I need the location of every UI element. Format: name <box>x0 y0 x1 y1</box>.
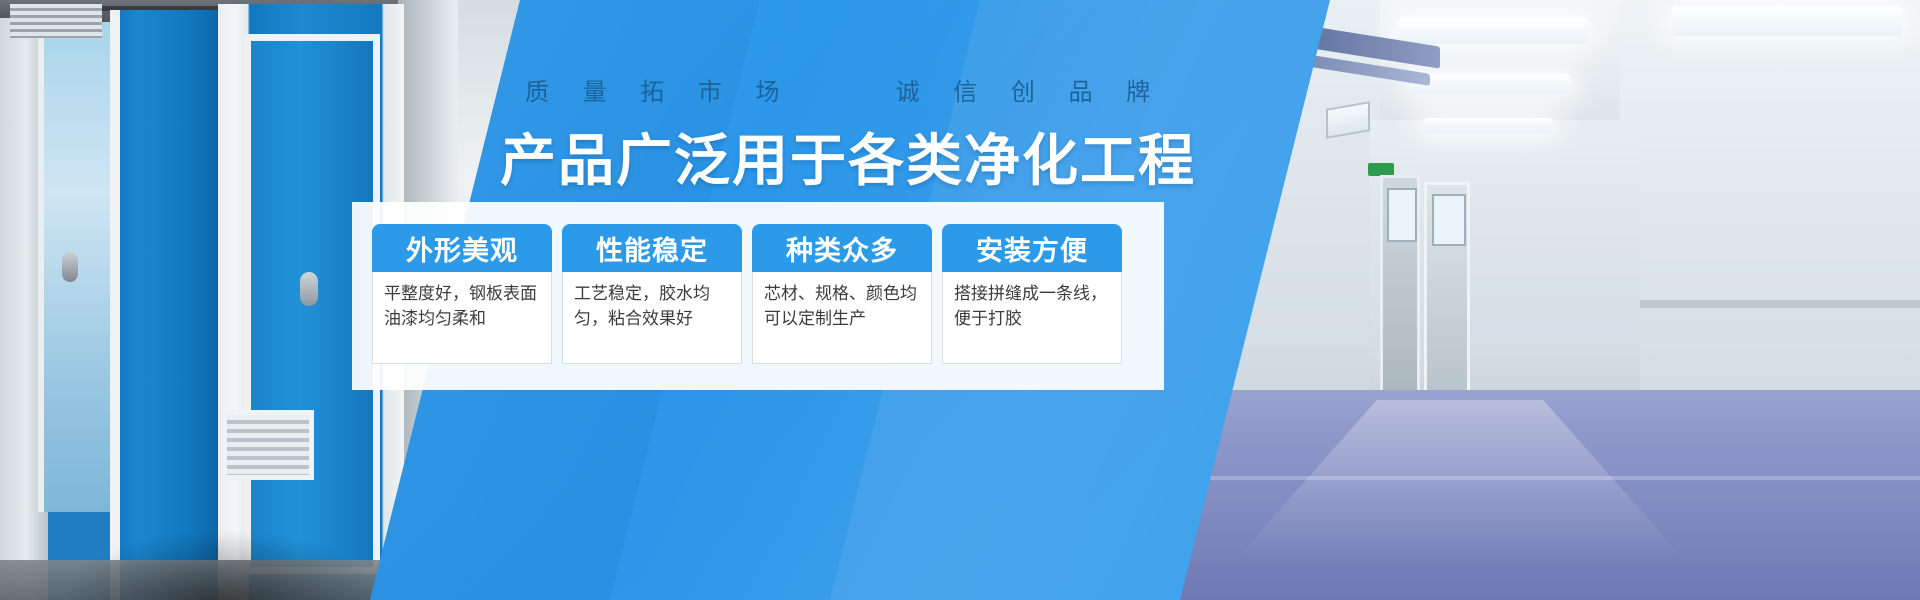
cabin-frame <box>110 10 120 600</box>
cabin-vent <box>222 410 314 480</box>
cabin-unit-one <box>110 10 228 600</box>
feature-card-title: 安装方便 <box>942 224 1122 272</box>
ceiling-light <box>1424 118 1552 133</box>
feature-card-title: 种类众多 <box>752 224 932 272</box>
feature-card[interactable]: 种类众多 芯材、规格、颜色均可以定制生产 <box>752 224 932 364</box>
wall-band <box>1620 300 1920 308</box>
feature-card-body: 搭接拼缝成一条线，便于打胶 <box>942 272 1122 364</box>
feature-card-body: 平整度好，钢板表面油漆均匀柔和 <box>372 272 552 364</box>
feature-card-title: 外形美观 <box>372 224 552 272</box>
promo-banner: 质 量 拓 市 场 诚 信 创 品 牌 产品广泛用于各类净化工程 外形美观 平整… <box>0 0 1920 600</box>
ceiling-light <box>1410 74 1570 94</box>
door-handle <box>300 272 318 306</box>
feature-card-panel: 外形美观 平整度好，钢板表面油漆均匀柔和 性能稳定 工艺稳定，胶水均匀，粘合效果… <box>352 202 1164 390</box>
feature-card[interactable]: 性能稳定 工艺稳定，胶水均匀，粘合效果好 <box>562 224 742 364</box>
banner-tagline: 质 量 拓 市 场 诚 信 创 品 牌 <box>525 72 1065 107</box>
cabin-vent-top <box>10 4 102 38</box>
feature-card-body: 芯材、规格、颜色均可以定制生产 <box>752 272 932 364</box>
floor-shadow <box>60 530 390 600</box>
door-window <box>1432 194 1466 246</box>
feature-card-title: 性能稳定 <box>562 224 742 272</box>
door-handle <box>62 252 78 282</box>
feature-card[interactable]: 外形美观 平整度好，钢板表面油漆均匀柔和 <box>372 224 552 364</box>
feature-card[interactable]: 安装方便 搭接拼缝成一条线，便于打胶 <box>942 224 1122 364</box>
banner-headline: 产品广泛用于各类净化工程 <box>500 116 1196 197</box>
door-window <box>1387 188 1417 242</box>
ceiling-light <box>1398 18 1588 44</box>
feature-card-body: 工艺稳定，胶水均匀，粘合效果好 <box>562 272 742 364</box>
ceiling-light <box>1672 6 1902 36</box>
